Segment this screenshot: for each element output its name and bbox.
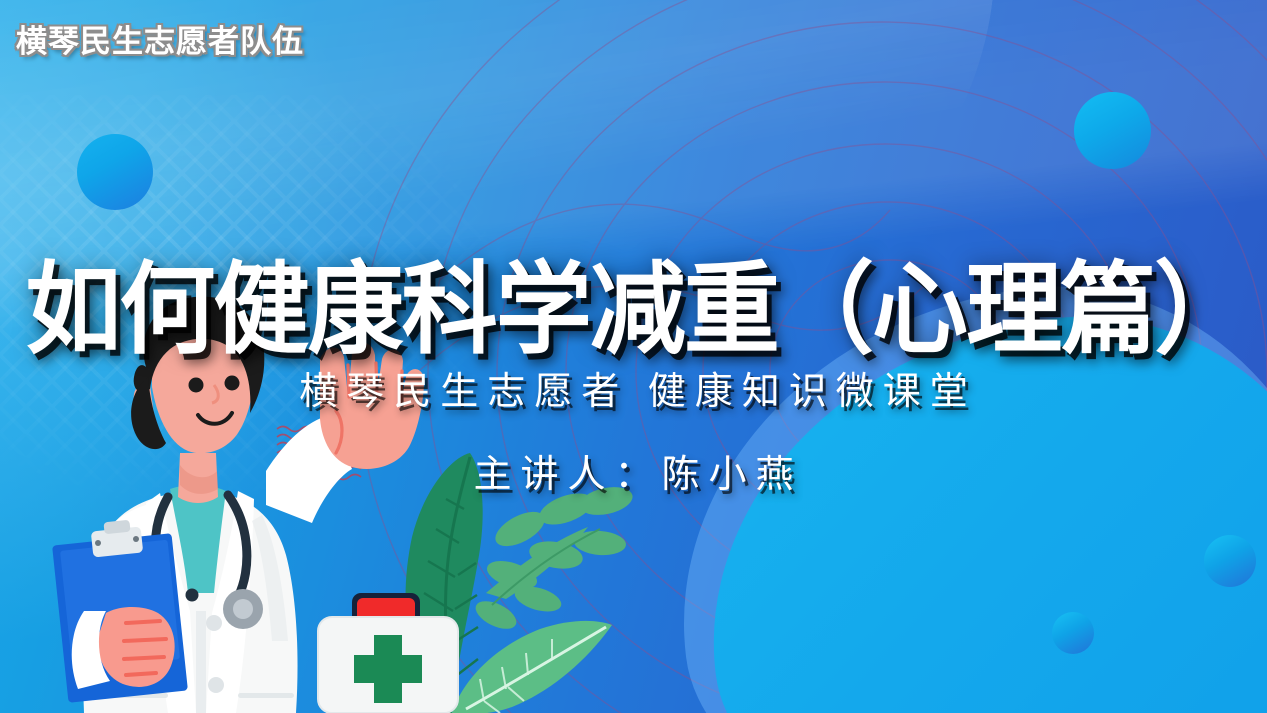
circle-blob-small: [1052, 612, 1094, 654]
page-title: 如何健康科学减重（心理篇）: [25, 260, 1241, 360]
brand-tag: 横琴民生志愿者队伍: [16, 16, 304, 61]
subtitle-line-1: 横琴民生志愿者 健康知识微课堂: [0, 360, 1267, 415]
circle-blob-large: [1204, 535, 1256, 587]
poster-canvas: 横琴民生志愿者队伍 如何健康科学减重（心理篇） 横琴民生志愿者 健康知识微课堂 …: [0, 0, 1267, 713]
circle-top-right: [1074, 92, 1151, 169]
circle-top-left: [77, 134, 153, 210]
subtitle-line-2: 主讲人：陈小燕: [0, 443, 1267, 498]
